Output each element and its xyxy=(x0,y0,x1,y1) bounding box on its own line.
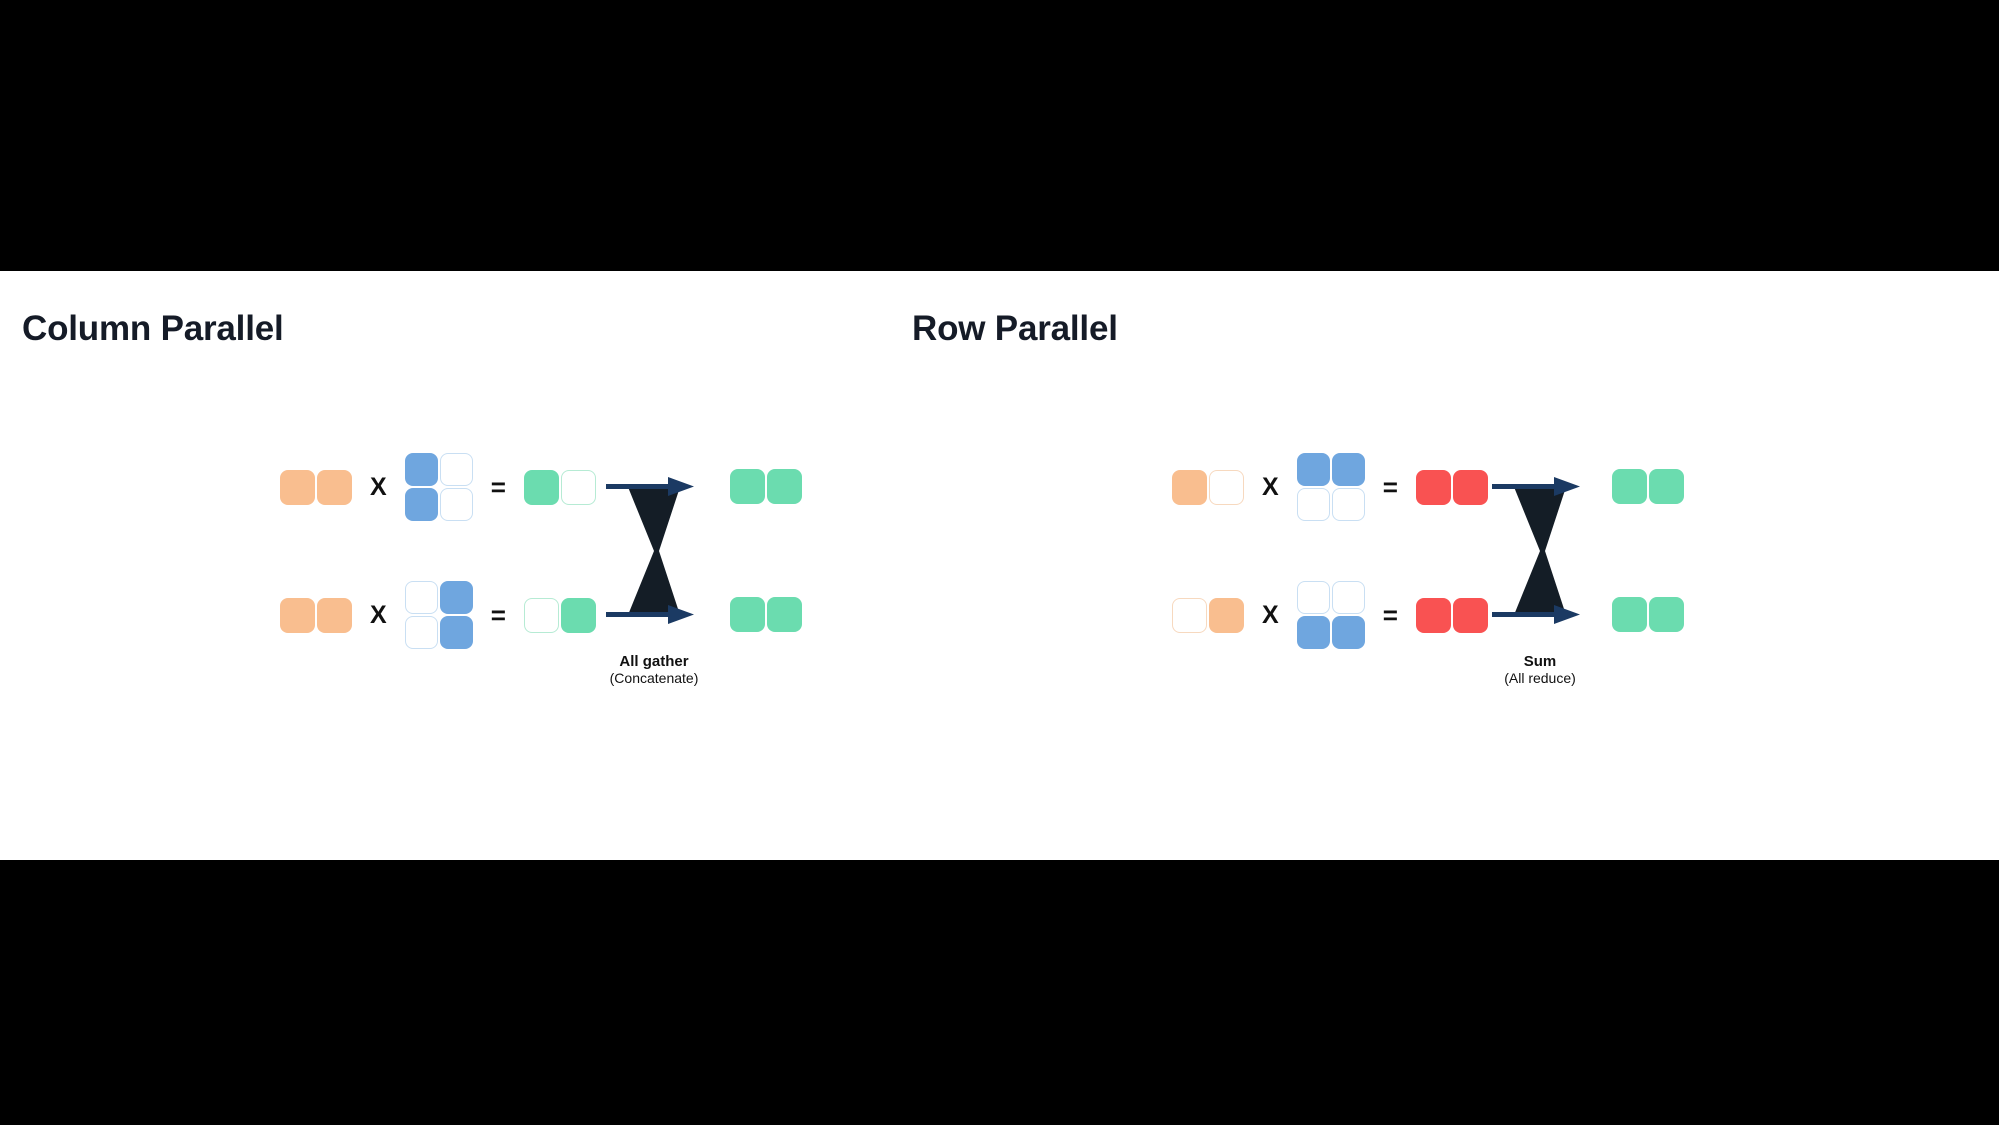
matrix-cell xyxy=(1416,598,1451,633)
matrix-cell xyxy=(1209,470,1244,505)
matrix-cell xyxy=(730,469,765,504)
equation-row: X = xyxy=(280,451,596,523)
panel-title-column-parallel: Column Parallel xyxy=(22,309,284,349)
multiply-operator: X xyxy=(1262,603,1279,628)
matrix-cell xyxy=(405,616,438,649)
matrix-cell xyxy=(1612,597,1647,632)
matrix-cell xyxy=(280,470,315,505)
reduced-output-vector xyxy=(1612,469,1684,504)
matrix-cell xyxy=(1453,598,1488,633)
matrix-cell xyxy=(524,470,559,505)
equation-row: X = xyxy=(280,579,596,651)
input-vector xyxy=(1172,598,1244,633)
multiply-operator: X xyxy=(370,475,387,500)
equals-operator: = xyxy=(1383,474,1398,500)
partial-output-vector xyxy=(1416,598,1488,633)
matrix-cell xyxy=(1416,470,1451,505)
equation-row: X = xyxy=(1172,579,1488,651)
weight-matrix xyxy=(405,581,473,649)
collective-op-all-gather: All gather (Concatenate) xyxy=(606,451,702,651)
collective-op-name: All gather xyxy=(554,653,754,670)
matrix-cell xyxy=(317,598,352,633)
matrix-cell xyxy=(1297,488,1330,521)
input-vector xyxy=(280,598,352,633)
matrix-cell xyxy=(1209,598,1244,633)
matrix-cell xyxy=(1332,488,1365,521)
all-reduce-arrow-icon xyxy=(1492,451,1588,651)
collective-op-detail: (All reduce) xyxy=(1440,670,1640,687)
equals-operator: = xyxy=(491,602,506,628)
equation-row: X = xyxy=(1172,451,1488,523)
matrix-cell xyxy=(1297,453,1330,486)
matrix-cell xyxy=(1649,597,1684,632)
multiply-operator: X xyxy=(370,603,387,628)
matrix-cell xyxy=(317,470,352,505)
input-vector xyxy=(1172,470,1244,505)
weight-matrix xyxy=(1297,453,1365,521)
matrix-cell xyxy=(405,453,438,486)
letterbox-bottom xyxy=(0,860,1999,1125)
matrix-cell xyxy=(1297,581,1330,614)
matrix-cell xyxy=(561,470,596,505)
equals-operator: = xyxy=(1383,602,1398,628)
matrix-cell xyxy=(405,581,438,614)
matrix-cell xyxy=(1332,453,1365,486)
matrix-cell xyxy=(730,597,765,632)
collective-op-detail: (Concatenate) xyxy=(554,670,754,687)
matrix-cell xyxy=(524,598,559,633)
matrix-cell xyxy=(1172,598,1207,633)
collective-op-name: Sum xyxy=(1440,653,1640,670)
weight-matrix xyxy=(1297,581,1365,649)
matrix-cell xyxy=(440,616,473,649)
matrix-cell xyxy=(280,598,315,633)
matrix-cell xyxy=(405,488,438,521)
all-gather-arrow-icon xyxy=(606,451,702,651)
collective-op-all-reduce: Sum (All reduce) xyxy=(1492,451,1588,651)
weight-matrix xyxy=(405,453,473,521)
gathered-output-vector xyxy=(730,597,802,632)
matrix-cell xyxy=(1649,469,1684,504)
matrix-cell xyxy=(561,598,596,633)
matrix-cell xyxy=(1172,470,1207,505)
equals-operator: = xyxy=(491,474,506,500)
partial-output-vector xyxy=(1416,470,1488,505)
figure-stage: Column Parallel Row Parallel X xyxy=(0,0,1999,1125)
matrix-cell xyxy=(1453,470,1488,505)
matrix-cell xyxy=(1332,616,1365,649)
matrix-cell xyxy=(1612,469,1647,504)
reduced-output-vector xyxy=(1612,597,1684,632)
matrix-cell xyxy=(767,469,802,504)
partial-output-vector xyxy=(524,470,596,505)
matrix-cell xyxy=(440,581,473,614)
gathered-output-vector xyxy=(730,469,802,504)
diagram-canvas: Column Parallel Row Parallel X xyxy=(0,271,1999,860)
input-vector xyxy=(280,470,352,505)
matrix-cell xyxy=(767,597,802,632)
collective-op-caption: Sum (All reduce) xyxy=(1440,653,1640,687)
panel-title-row-parallel: Row Parallel xyxy=(912,309,1118,349)
matrix-cell xyxy=(1297,616,1330,649)
matrix-cell xyxy=(1332,581,1365,614)
matrix-cell xyxy=(440,453,473,486)
collective-op-caption: All gather (Concatenate) xyxy=(554,653,754,687)
letterbox-top xyxy=(0,0,1999,271)
partial-output-vector xyxy=(524,598,596,633)
matrix-cell xyxy=(440,488,473,521)
multiply-operator: X xyxy=(1262,475,1279,500)
